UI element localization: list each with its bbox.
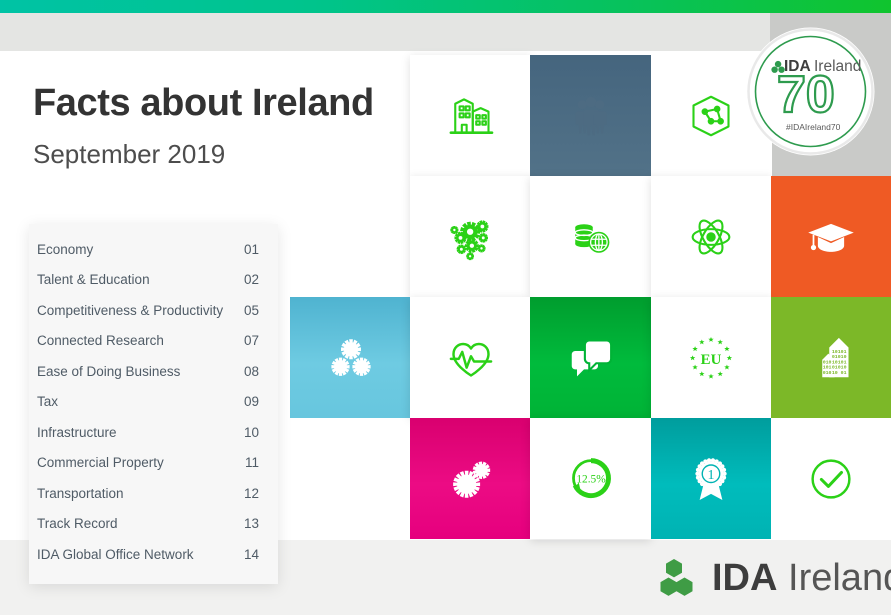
tile-chat-bubbles[interactable] (530, 297, 651, 418)
toc-item-label: IDA Global Office Network (37, 547, 194, 562)
table-of-contents: Economy01Talent & Education02Competitive… (29, 224, 278, 584)
svg-text:10101: 10101 (832, 359, 847, 365)
tile-gears-cluster[interactable] (410, 176, 531, 297)
toc-item-page: 11 (245, 455, 259, 470)
logo-text-light (777, 557, 788, 599)
svg-text:70: 70 (777, 66, 835, 124)
toc-row[interactable]: Talent & Education02 (29, 265, 278, 296)
cog-pair-icon (443, 451, 499, 507)
svg-text:10101: 10101 (832, 348, 847, 354)
toc-item-page: 05 (244, 303, 259, 318)
ida-hexagon-icon (660, 557, 702, 599)
toc-item-label: Commercial Property (37, 455, 164, 470)
atom-icon (683, 209, 739, 265)
tile-eu-stars[interactable]: EU (651, 297, 772, 418)
tile-data-buildings[interactable]: 1010101010101010101010 01010101010 (771, 297, 891, 418)
toc-item-label: Infrastructure (37, 425, 117, 440)
percent-donut-icon: 12.5% (563, 451, 619, 507)
graduation-cap-icon (803, 209, 859, 265)
tile-check-circle[interactable] (771, 418, 891, 539)
award-ribbon-icon: 1 (683, 451, 739, 507)
toc-row[interactable]: Transportation12 (29, 478, 278, 509)
toc-item-label: Tax (37, 394, 58, 409)
toc-item-label: Transportation (37, 486, 124, 501)
tile-award-ribbon[interactable]: 1 (651, 418, 772, 539)
coins-globe-icon (563, 209, 619, 265)
chat-bubbles-icon (563, 330, 619, 386)
svg-text:101: 101 (823, 364, 832, 370)
toc-item-page: 08 (244, 364, 259, 379)
toc-row[interactable]: Commercial Property11 (29, 448, 278, 479)
toc-item-label: Connected Research (37, 333, 164, 348)
toc-row[interactable]: Economy01 (29, 234, 278, 265)
toc-item-page: 13 (244, 516, 259, 531)
toc-row[interactable]: Infrastructure10 (29, 417, 278, 448)
tile-people-group[interactable] (530, 55, 651, 176)
svg-text:010: 010 (823, 359, 832, 365)
cube-network-icon (683, 88, 739, 144)
tile-graduation-cap[interactable] (771, 176, 891, 297)
slide-canvas: Facts about Ireland September 2019 Econo… (0, 0, 891, 615)
svg-text:010: 010 (823, 369, 832, 375)
toc-item-page: 12 (244, 486, 259, 501)
svg-text:1: 1 (708, 468, 715, 483)
logo-text-bold: IDA (712, 557, 777, 599)
toc-item-page: 07 (244, 333, 259, 348)
toc-row[interactable]: Competitiveness & Productivity05 (29, 295, 278, 326)
ida-ireland-logo: IDA Ireland (660, 557, 891, 599)
people-group-icon (563, 88, 619, 144)
svg-text:EU: EU (701, 352, 722, 368)
svg-text:12.5%: 12.5% (576, 473, 606, 485)
svg-text:01010: 01010 (832, 354, 847, 360)
eu-stars-icon: EU (683, 330, 739, 386)
top-gradient-bar (0, 0, 891, 13)
toc-row[interactable]: Connected Research07 (29, 326, 278, 357)
toc-row[interactable]: Ease of Doing Business08 (29, 356, 278, 387)
tile-cog-pair[interactable] (410, 418, 531, 539)
toc-item-label: Talent & Education (37, 272, 150, 287)
toc-item-label: Ease of Doing Business (37, 364, 180, 379)
heart-pulse-icon (443, 330, 499, 386)
toc-item-page: 02 (244, 272, 259, 287)
three-gears-icon (323, 330, 379, 386)
toc-item-label: Track Record (37, 516, 118, 531)
svg-text:10 01: 10 01 (832, 369, 847, 375)
svg-text:01010: 01010 (832, 364, 847, 370)
tile-buildings[interactable] (410, 55, 531, 176)
toc-item-page: 10 (244, 425, 259, 440)
anniversary-badge: IDA Ireland 70 #IDAIreland70 (745, 26, 876, 157)
toc-item-page: 09 (244, 394, 259, 409)
page-subtitle: September 2019 (33, 139, 225, 170)
toc-row[interactable]: IDA Global Office Network14 (29, 539, 278, 570)
tile-heart-pulse[interactable] (410, 297, 531, 418)
gears-cluster-icon (443, 209, 499, 265)
check-circle-icon (803, 451, 859, 507)
toc-row[interactable]: Track Record13 (29, 509, 278, 540)
logo-text-light-word: Ireland (788, 557, 891, 599)
toc-item-label: Competitiveness & Productivity (37, 303, 223, 318)
buildings-icon (443, 88, 499, 144)
toc-item-page: 14 (244, 547, 259, 562)
page-title: Facts about Ireland (33, 82, 374, 125)
tile-coins-globe[interactable] (530, 176, 651, 297)
toc-row[interactable]: Tax09 (29, 387, 278, 418)
toc-item-label: Economy (37, 242, 93, 257)
data-buildings-icon: 1010101010101010101010 01010101010 (803, 330, 859, 386)
tile-percent-donut[interactable]: 12.5% (530, 418, 651, 539)
tile-atom[interactable] (651, 176, 772, 297)
toc-item-page: 01 (244, 242, 259, 257)
tile-three-gears[interactable] (290, 297, 411, 418)
svg-text:#IDAIreland70: #IDAIreland70 (786, 122, 841, 132)
